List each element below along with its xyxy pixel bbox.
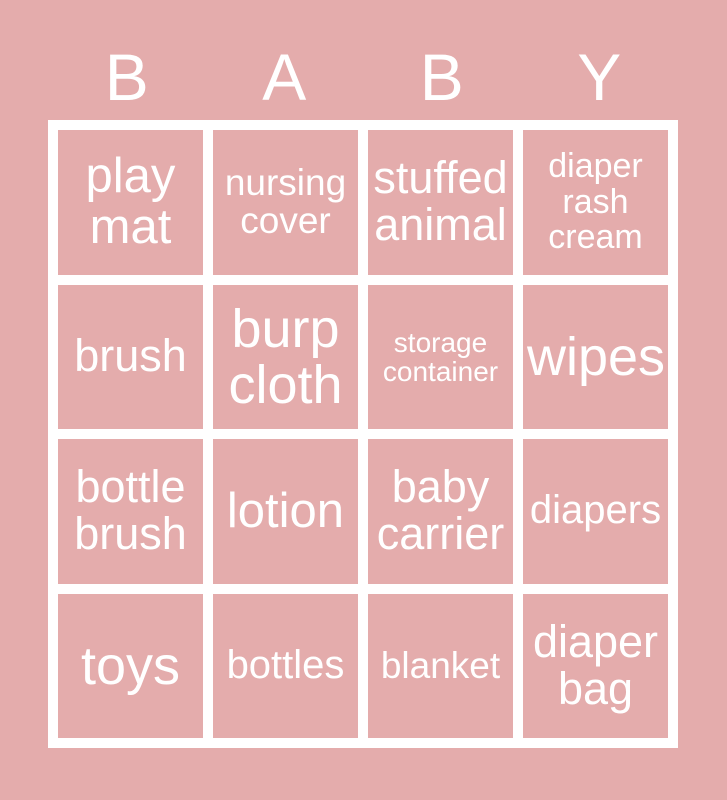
header-letter-1: B — [48, 44, 206, 110]
bingo-cell-label: diapers — [527, 490, 664, 532]
bingo-cell-r3c1[interactable]: bottle brush — [58, 439, 203, 584]
header-letter-4: Y — [521, 44, 679, 110]
bingo-cell-r2c3[interactable]: storage container — [368, 285, 513, 430]
bingo-cell-r3c3[interactable]: baby carrier — [368, 439, 513, 584]
bingo-cell-label: diaper rash cream — [527, 149, 664, 255]
bingo-cell-r1c3[interactable]: stuffed animal — [368, 130, 513, 275]
bingo-cell-r2c4[interactable]: wipes — [523, 285, 668, 430]
bingo-cell-r4c4[interactable]: diaper bag — [523, 594, 668, 739]
bingo-cell-r4c3[interactable]: blanket — [368, 594, 513, 739]
bingo-grid: play mat nursing cover stuffed animal di… — [48, 120, 678, 748]
bingo-header: B A B Y — [48, 34, 678, 120]
bingo-cell-r1c1[interactable]: play mat — [58, 130, 203, 275]
bingo-cell-label: stuffed animal — [372, 155, 509, 249]
bingo-cell-label: baby carrier — [372, 464, 509, 558]
bingo-cell-r4c1[interactable]: toys — [58, 594, 203, 739]
bingo-cell-r1c4[interactable]: diaper rash cream — [523, 130, 668, 275]
bingo-cell-label: burp cloth — [217, 301, 354, 413]
bingo-cell-r3c4[interactable]: diapers — [523, 439, 668, 584]
bingo-cell-r2c2[interactable]: burp cloth — [213, 285, 358, 430]
bingo-cell-label: nursing cover — [217, 164, 354, 241]
bingo-cell-label: brush — [62, 333, 199, 380]
header-letter-2: A — [206, 44, 364, 110]
bingo-cell-r4c2[interactable]: bottles — [213, 594, 358, 739]
bingo-cell-label: blanket — [372, 647, 509, 685]
bingo-cell-label: bottles — [217, 645, 354, 687]
bingo-cell-r3c2[interactable]: lotion — [213, 439, 358, 584]
bingo-cell-label: diaper bag — [527, 619, 664, 713]
bingo-cell-label: toys — [62, 638, 199, 694]
bingo-cell-label: lotion — [217, 486, 354, 537]
bingo-cell-label: play mat — [62, 151, 199, 253]
bingo-cell-label: bottle brush — [62, 464, 199, 558]
bingo-cell-label: wipes — [527, 329, 664, 385]
bingo-card: B A B Y play mat nursing cover stuffed a… — [0, 0, 727, 800]
bingo-cell-label: storage container — [372, 328, 509, 386]
bingo-cell-r1c2[interactable]: nursing cover — [213, 130, 358, 275]
bingo-cell-r2c1[interactable]: brush — [58, 285, 203, 430]
header-letter-3: B — [363, 44, 521, 110]
